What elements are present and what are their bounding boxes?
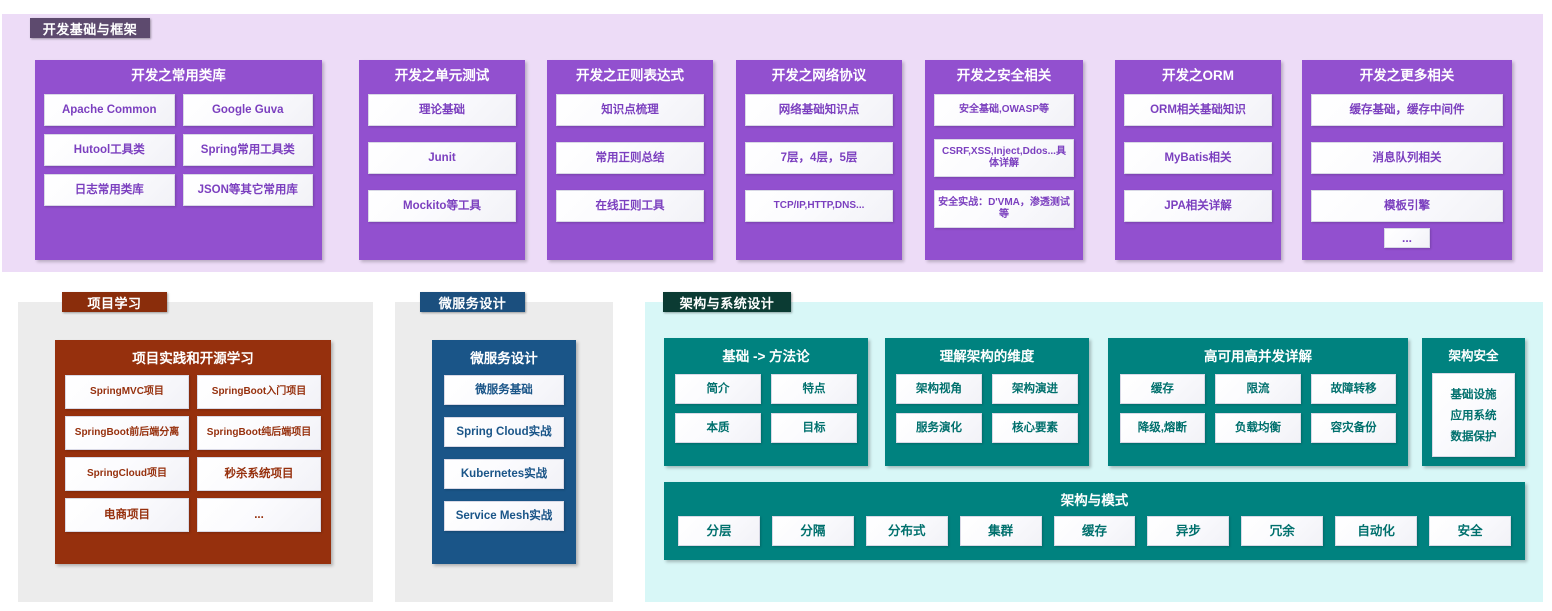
section-tab-architecture-design[interactable]: 架构与系统设计 — [663, 292, 791, 312]
project-item[interactable]: SpringBoot纯后端项目 — [197, 416, 321, 450]
dev-item[interactable]: Mockito等工具 — [368, 190, 516, 222]
architecture-item[interactable]: 缓存 — [1054, 516, 1136, 546]
project-item[interactable]: 电商项目 — [65, 498, 189, 532]
dev-item[interactable]: Apache Common — [44, 94, 175, 126]
dev-item[interactable]: 消息队列相关 — [1311, 142, 1503, 174]
dev-column-title: 开发之更多相关 — [1302, 67, 1512, 85]
dev-item[interactable]: Junit — [368, 142, 516, 174]
project-box-title: 项目实践和开源学习 — [55, 347, 331, 367]
section-microservice-design: 微服务设计 微服务设计 微服务基础 Spring Cloud实战 Kuberne… — [395, 302, 613, 602]
project-item[interactable]: SpringBoot入门项目 — [197, 375, 321, 409]
section-architecture-design: 架构与系统设计 基础 -> 方法论 简介 特点 本质 目标 理解架构的维度 架构… — [645, 302, 1543, 602]
dev-item[interactable]: Hutool工具类 — [44, 134, 175, 166]
architecture-item[interactable]: 异步 — [1147, 516, 1229, 546]
architecture-security-card[interactable]: 基础设施 应用系统 数据保护 — [1432, 373, 1515, 457]
architecture-item[interactable]: 本质 — [675, 413, 761, 443]
project-item[interactable]: SpringMVC项目 — [65, 375, 189, 409]
architecture-item[interactable]: 核心要素 — [992, 413, 1078, 443]
dev-item[interactable]: 安全实战：D'VMA，渗透测试等 — [934, 190, 1074, 228]
architecture-box-high-availability: 高可用高并发详解 缓存 限流 故障转移 降级,熔断 负载均衡 容灾备份 — [1108, 338, 1408, 466]
architecture-box-title: 基础 -> 方法论 — [664, 345, 868, 365]
dev-item[interactable]: 在线正则工具 — [556, 190, 704, 222]
architecture-box-title: 理解架构的维度 — [885, 345, 1089, 365]
dev-item[interactable]: 网络基础知识点 — [745, 94, 893, 126]
section-project-learning: 项目学习 项目实践和开源学习 SpringMVC项目 SpringBoot入门项… — [18, 302, 373, 602]
dev-item[interactable]: 7层，4层，5层 — [745, 142, 893, 174]
project-item[interactable]: SpringCloud项目 — [65, 457, 189, 491]
project-practice-box: 项目实践和开源学习 SpringMVC项目 SpringBoot入门项目 Spr… — [55, 340, 331, 564]
dev-column-title: 开发之ORM — [1115, 67, 1281, 85]
microservice-item[interactable]: Kubernetes实战 — [444, 459, 564, 489]
dev-item[interactable]: JPA相关详解 — [1124, 190, 1272, 222]
dev-item-more[interactable]: ... — [1384, 228, 1430, 248]
project-item-more[interactable]: ... — [197, 498, 321, 532]
dev-item[interactable]: JSON等其它常用库 — [183, 174, 314, 206]
dev-column-title: 开发之安全相关 — [925, 67, 1083, 85]
architecture-box-security: 架构安全 基础设施 应用系统 数据保护 — [1422, 338, 1525, 466]
dev-column-title: 开发之正则表达式 — [547, 67, 713, 85]
architecture-item[interactable]: 架构演进 — [992, 374, 1078, 404]
dev-item[interactable]: 理论基础 — [368, 94, 516, 126]
architecture-item[interactable]: 负载均衡 — [1215, 413, 1301, 443]
project-item[interactable]: SpringBoot前后端分离 — [65, 416, 189, 450]
section-tab-dev-foundation[interactable]: 开发基础与框架 — [30, 18, 150, 38]
architecture-item[interactable]: 故障转移 — [1311, 374, 1397, 404]
architecture-item[interactable]: 冗余 — [1241, 516, 1323, 546]
architecture-box-dimension: 理解架构的维度 架构视角 架构演进 服务演化 核心要素 — [885, 338, 1089, 466]
architecture-item[interactable]: 缓存 — [1120, 374, 1206, 404]
project-item[interactable]: 秒杀系统项目 — [197, 457, 321, 491]
architecture-item[interactable]: 简介 — [675, 374, 761, 404]
dev-item[interactable]: 安全基础,OWASP等 — [934, 94, 1074, 126]
dev-item[interactable]: MyBatis相关 — [1124, 142, 1272, 174]
dev-item[interactable]: 缓存基础，缓存中间件 — [1311, 94, 1503, 126]
architecture-item: 应用系统 — [1451, 407, 1497, 423]
architecture-box-title: 架构与模式 — [664, 489, 1525, 509]
architecture-box-title: 架构安全 — [1422, 345, 1525, 364]
architecture-item[interactable]: 分层 — [678, 516, 760, 546]
dev-item[interactable]: 模板引擎 — [1311, 190, 1503, 222]
architecture-box-title: 高可用高并发详解 — [1108, 345, 1408, 365]
dev-item[interactable]: TCP/IP,HTTP,DNS... — [745, 190, 893, 222]
microservice-box-title: 微服务设计 — [432, 347, 576, 367]
architecture-item[interactable]: 架构视角 — [896, 374, 982, 404]
architecture-item[interactable]: 特点 — [771, 374, 857, 404]
section-dev-foundation: 开发基础与框架 开发之常用类库 Apache Common Google Guv… — [2, 14, 1543, 272]
dev-item[interactable]: 常用正则总结 — [556, 142, 704, 174]
microservice-box: 微服务设计 微服务基础 Spring Cloud实战 Kubernetes实战 … — [432, 340, 576, 564]
dev-column-network: 开发之网络协议 网络基础知识点 7层，4层，5层 TCP/IP,HTTP,DNS… — [736, 60, 902, 260]
dev-item[interactable]: Google Guva — [183, 94, 314, 126]
dev-item[interactable]: 知识点梳理 — [556, 94, 704, 126]
dev-item[interactable]: CSRF,XSS,Inject,Ddos...具体详解 — [934, 139, 1074, 177]
dev-column-title: 开发之单元测试 — [359, 67, 525, 85]
dev-column-orm: 开发之ORM ORM相关基础知识 MyBatis相关 JPA相关详解 — [1115, 60, 1281, 260]
architecture-box-pattern: 架构与模式 分层 分隔 分布式 集群 缓存 异步 冗余 自动化 安全 — [664, 482, 1525, 560]
architecture-item: 基础设施 — [1451, 386, 1497, 402]
dev-item[interactable]: 日志常用类库 — [44, 174, 175, 206]
dev-column-more: 开发之更多相关 缓存基础，缓存中间件 消息队列相关 模板引擎 ... — [1302, 60, 1512, 260]
microservice-item[interactable]: 微服务基础 — [444, 375, 564, 405]
microservice-item[interactable]: Spring Cloud实战 — [444, 417, 564, 447]
dev-column-common-libs: 开发之常用类库 Apache Common Google Guva Hutool… — [35, 60, 322, 260]
architecture-item[interactable]: 自动化 — [1335, 516, 1417, 546]
architecture-item[interactable]: 容灾备份 — [1311, 413, 1397, 443]
dev-item[interactable]: Spring常用工具类 — [183, 134, 314, 166]
dev-column-unit-test: 开发之单元测试 理论基础 Junit Mockito等工具 — [359, 60, 525, 260]
section-tab-microservice-design[interactable]: 微服务设计 — [420, 292, 525, 312]
dev-column-title: 开发之网络协议 — [736, 67, 902, 85]
architecture-item[interactable]: 限流 — [1215, 374, 1301, 404]
architecture-item[interactable]: 服务演化 — [896, 413, 982, 443]
architecture-item[interactable]: 目标 — [771, 413, 857, 443]
architecture-item[interactable]: 安全 — [1429, 516, 1511, 546]
architecture-box-foundation: 基础 -> 方法论 简介 特点 本质 目标 — [664, 338, 868, 466]
architecture-item[interactable]: 集群 — [960, 516, 1042, 546]
microservice-item[interactable]: Service Mesh实战 — [444, 501, 564, 531]
dev-column-regex: 开发之正则表达式 知识点梳理 常用正则总结 在线正则工具 — [547, 60, 713, 260]
dev-item[interactable]: ORM相关基础知识 — [1124, 94, 1272, 126]
architecture-item[interactable]: 分隔 — [772, 516, 854, 546]
section-tab-project-learning[interactable]: 项目学习 — [62, 292, 167, 312]
dev-column-security: 开发之安全相关 安全基础,OWASP等 CSRF,XSS,Inject,Ddos… — [925, 60, 1083, 260]
architecture-item[interactable]: 分布式 — [866, 516, 948, 546]
dev-column-title: 开发之常用类库 — [35, 67, 322, 85]
architecture-item: 数据保护 — [1451, 428, 1497, 444]
architecture-item[interactable]: 降级,熔断 — [1120, 413, 1206, 443]
